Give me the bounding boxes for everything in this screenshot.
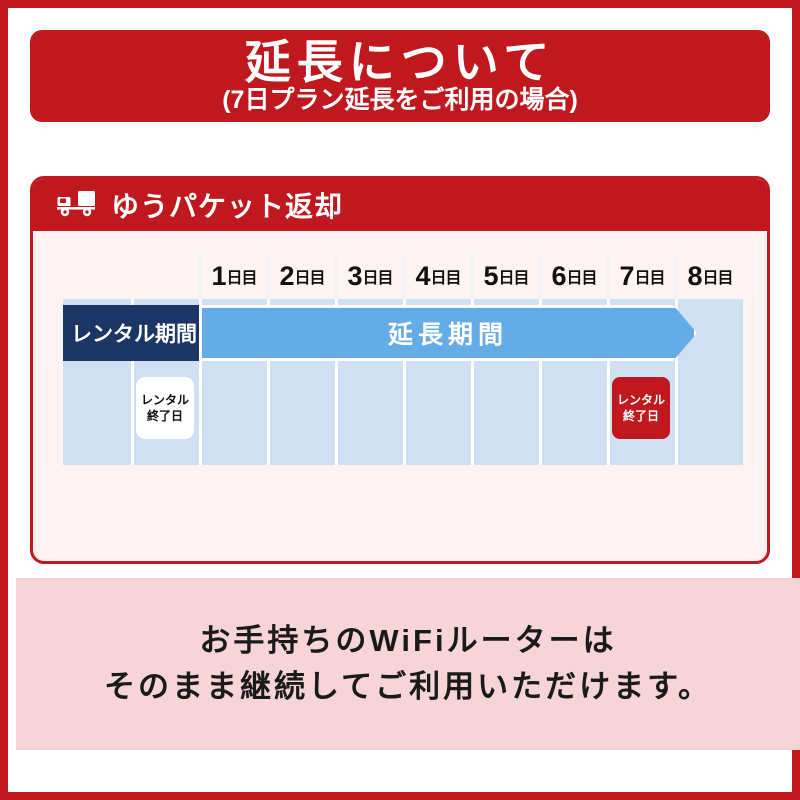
day-label-row: 1日目2日目3日目4日目5日目6日目7日目8日目 [63, 253, 743, 299]
day-number: 6 [551, 261, 566, 292]
extension-period-bar: 延長期間 [199, 305, 697, 361]
timeline-chart: 1日目2日目3日目4日目5日目6日目7日目8日目 レンタル期間 延長期間 レンタ… [63, 253, 743, 465]
day-label-3: 3日目 [335, 253, 403, 299]
chip-line-2: 終了日 [147, 408, 183, 424]
day-number: 5 [483, 261, 498, 292]
card-header-label: ゆうパケット返却 [111, 185, 343, 225]
day-label-5: 5日目 [471, 253, 539, 299]
day-number: 3 [347, 261, 362, 292]
rental-period-label: レンタル期間 [71, 318, 197, 348]
rental-period-bar: レンタル期間 [63, 305, 221, 361]
day-suffix: 日目 [363, 264, 393, 288]
day-suffix: 日目 [227, 264, 257, 288]
day-number: 2 [279, 261, 294, 292]
day-number: 1 [211, 261, 226, 292]
day-suffix: 日目 [431, 264, 461, 288]
day-label-2: 2日目 [267, 253, 335, 299]
rental-end-date-chip-extended: レンタル 終了日 [612, 377, 670, 439]
bottom-note-band: お手持ちのWiFiルーターは そのまま継続してご利用いただけます。 [16, 578, 800, 750]
bottom-note-line-2: そのまま継続してご利用いただけます。 [104, 664, 712, 711]
day-suffix: 日目 [567, 264, 597, 288]
day-label-1: 1日目 [199, 253, 267, 299]
day-suffix: 日目 [703, 264, 733, 288]
extension-period-label: 延長期間 [388, 315, 508, 351]
poster-frame: 延長について (7日プラン延長をご利用の場合) ゆうパケット返却 [0, 0, 800, 800]
bottom-note-line-1: お手持ちのWiFiルーターは [199, 618, 616, 665]
day-number: 4 [415, 261, 430, 292]
chip-line-1: レンタル [141, 392, 189, 408]
day-number: 7 [619, 261, 634, 292]
day-number: 8 [687, 261, 702, 292]
page-subtitle: (7日プラン延長をご利用の場合) [222, 87, 578, 113]
day-suffix: 日目 [499, 264, 529, 288]
title-banner: 延長について (7日プラン延長をご利用の場合) [30, 30, 770, 122]
return-method-card: ゆうパケット返却 1日目2日目3日目4日目5日目6日目7日目8日目 レンタル期間… [30, 176, 770, 564]
day-label-6: 6日目 [539, 253, 607, 299]
card-header: ゆうパケット返却 [33, 179, 767, 231]
page-title: 延長について [245, 39, 556, 86]
chip-line-1: レンタル [617, 392, 665, 408]
day-label-4: 4日目 [403, 253, 471, 299]
day-suffix: 日目 [295, 264, 325, 288]
timeline-grid: レンタル期間 延長期間 レンタル 終了日 レンタル 終了日 [63, 299, 743, 465]
chip-line-2: 終了日 [623, 408, 659, 424]
day-label-7: 7日目 [607, 253, 675, 299]
delivery-truck-icon [57, 189, 97, 222]
day-suffix: 日目 [635, 264, 665, 288]
rental-end-date-chip-original: レンタル 終了日 [136, 377, 194, 439]
day-label-8: 8日目 [675, 253, 743, 299]
